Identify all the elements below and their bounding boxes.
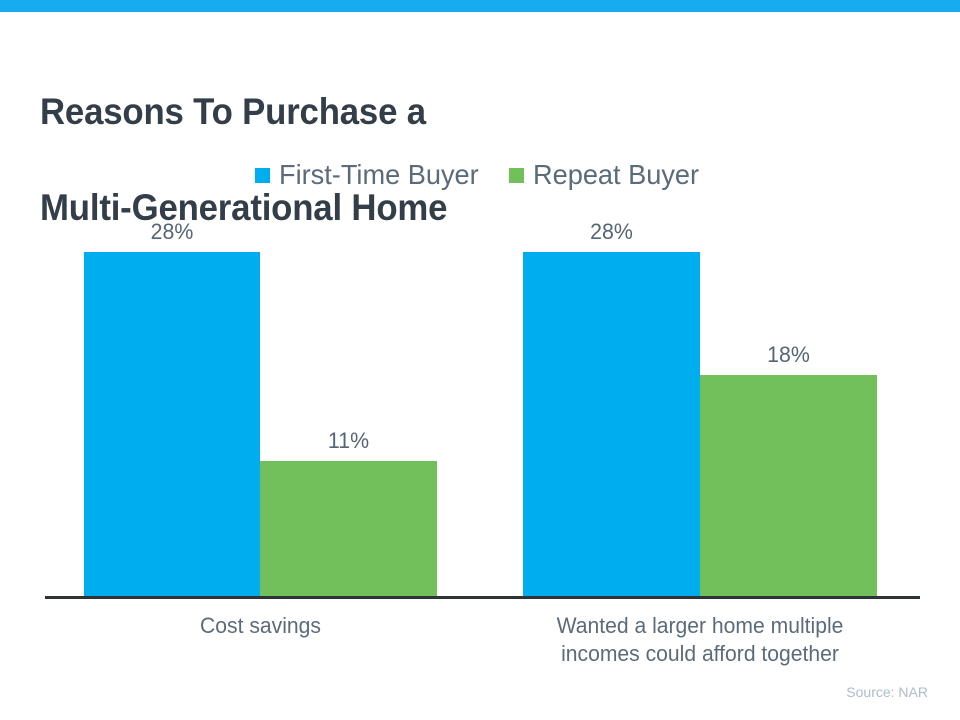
bar-label-repeat-buyer-cost-savings: 11% (263, 429, 435, 453)
bar-label-repeat-buyer-larger-home: 18% (703, 343, 875, 367)
bar-label-first-time-buyer-larger-home: 28% (526, 220, 698, 244)
source-attribution: Source: NAR (846, 683, 928, 701)
x-axis-category-label-larger-home: Wanted a larger home multiple incomes co… (508, 612, 892, 668)
x-axis-category-label-larger-home-line-1: Wanted a larger home multiple (557, 613, 844, 638)
bar-chart-plot-area: 28% 11% 28% 18% Cost savings Wanted a la… (0, 0, 960, 720)
bar-repeat-buyer-cost-savings[interactable] (260, 461, 437, 597)
x-axis-category-label-cost-savings: Cost savings (91, 612, 430, 640)
x-axis-category-label-cost-savings-line-1: Cost savings (200, 613, 321, 638)
bar-label-first-time-buyer-cost-savings: 28% (87, 220, 258, 244)
x-axis-category-label-larger-home-line-2: incomes could afford together (561, 641, 839, 666)
slide-canvas: Reasons To Purchase a Multi-Generational… (0, 0, 960, 720)
bar-first-time-buyer-larger-home[interactable] (523, 252, 700, 597)
x-axis-line (45, 596, 920, 599)
bar-repeat-buyer-larger-home[interactable] (700, 375, 877, 597)
bar-first-time-buyer-cost-savings[interactable] (84, 252, 260, 597)
